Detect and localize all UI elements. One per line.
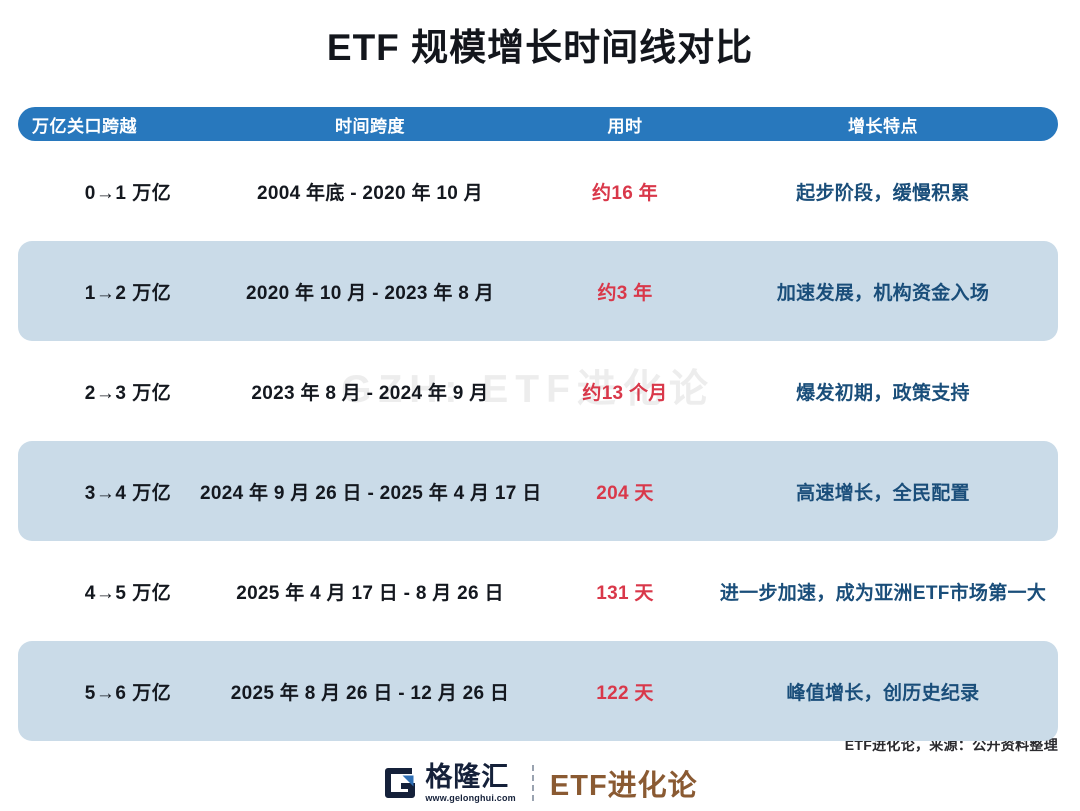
gelonghui-wordmark: 格隆汇 www.gelonghui.com [425,764,516,803]
table-row: 5→6 万亿 2025 年 8 月 26 日 - 12 月 26 日 122 天… [18,641,1058,741]
table-header-row: 万亿关口跨越 时间跨度 用时 增长特点 [18,107,1058,141]
gelonghui-logo: 格隆汇 www.gelonghui.com [382,764,516,803]
cell-feature: 进一步加速，成为亚洲ETF市场第一大 [708,578,1058,605]
table-row: 1→2 万亿 2020 年 10 月 - 2023 年 8 月 约3 年 加速发… [18,241,1058,341]
column-header-span: 时间跨度 [200,112,540,137]
column-header-feature: 增长特点 [708,112,1058,137]
column-header-duration: 用时 [530,112,720,137]
cell-span: 2025 年 4 月 17 日 - 8 月 26 日 [200,578,540,605]
table-row: 2→3 万亿 2023 年 8 月 - 2024 年 9 月 约13 个月 爆发… [18,341,1058,441]
table-row: 0→1 万亿 2004 年底 - 2020 年 10 月 约16 年 起步阶段，… [18,141,1058,241]
cell-duration: 约16 年 [530,178,720,205]
brand-url: www.gelonghui.com [425,794,516,803]
brand-name: 格隆汇 [425,764,516,791]
comparison-table: 万亿关口跨越 时间跨度 用时 增长特点 0→1 万亿 2004 年底 - 202… [18,107,1058,741]
cell-span: 2023 年 8 月 - 2024 年 9 月 [200,378,540,405]
cell-duration: 122 天 [530,678,720,705]
cell-span: 2004 年底 - 2020 年 10 月 [200,178,540,205]
cell-feature: 起步阶段，缓慢积累 [708,178,1058,205]
page-title: ETF 规模增长时间线对比 [0,26,1080,70]
cell-span: 2025 年 8 月 26 日 - 12 月 26 日 [200,678,540,705]
footer-brand: 格隆汇 www.gelonghui.com ETF进化论 [0,762,1080,804]
table-row: 3→4 万亿 2024 年 9 月 26 日 - 2025 年 4 月 17 日… [18,441,1058,541]
brand-divider [532,765,534,801]
cell-span: 2020 年 10 月 - 2023 年 8 月 [200,278,540,305]
column-name: ETF进化论 [550,762,698,804]
cell-duration: 204 天 [530,478,720,505]
cell-feature: 加速发展，机构资金入场 [708,278,1058,305]
cell-feature: 峰值增长，创历史纪录 [708,678,1058,705]
cell-feature: 爆发初期，政策支持 [708,378,1058,405]
cell-duration: 约13 个月 [530,378,720,405]
table-row: 4→5 万亿 2025 年 4 月 17 日 - 8 月 26 日 131 天 … [18,541,1058,641]
cell-span: 2024 年 9 月 26 日 - 2025 年 4 月 17 日 [200,478,540,505]
gelonghui-g-mark-icon [382,765,418,801]
cell-duration: 131 天 [530,578,720,605]
cell-duration: 约3 年 [530,278,720,305]
cell-feature: 高速增长，全民配置 [708,478,1058,505]
